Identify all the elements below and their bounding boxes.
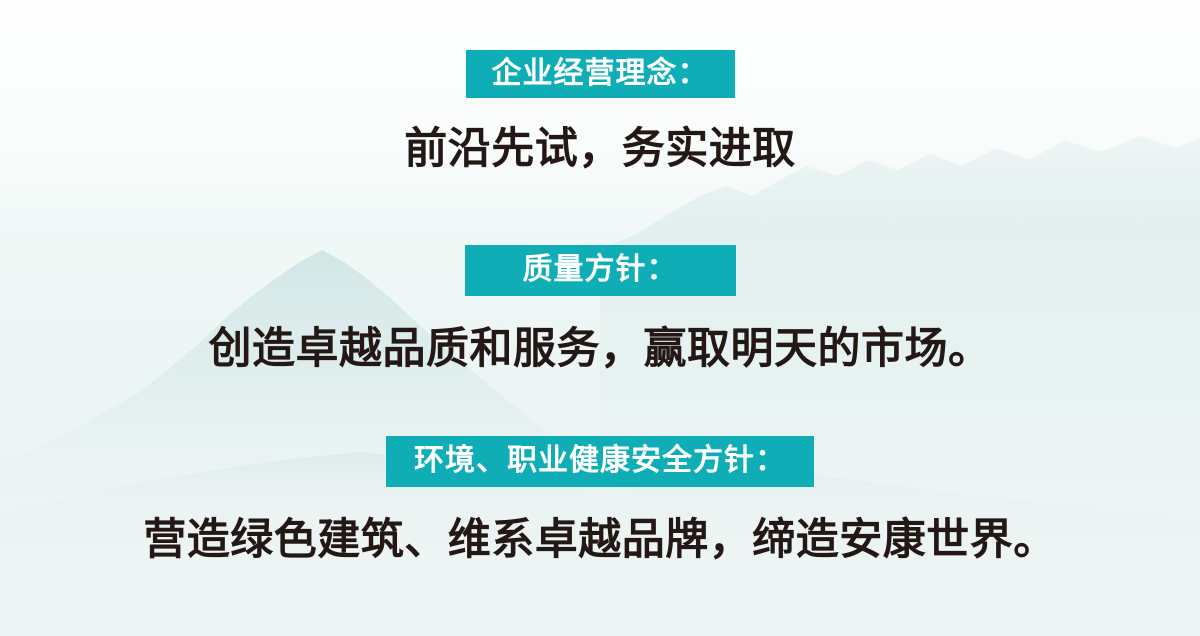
statement-text-corporate-philosophy: 前沿先试，务实进取 bbox=[0, 128, 1200, 171]
badge-quality-policy: 质量方针： bbox=[465, 245, 736, 296]
statement-text-ehs-policy: 营造绿色建筑、维系卓越品牌，缔造安康世界。 bbox=[0, 519, 1200, 562]
statement-block-ehs-policy: 环境、职业健康安全方针： 营造绿色建筑、维系卓越品牌，缔造安康世界。 bbox=[0, 436, 1200, 562]
statement-block-corporate-philosophy: 企业经营理念： 前沿先试，务实进取 bbox=[0, 50, 1200, 171]
poster-canvas: 企业经营理念： 前沿先试，务实进取 质量方针： 创造卓越品质和服务，赢取明天的市… bbox=[0, 0, 1200, 636]
statement-text-quality-policy: 创造卓越品质和服务，赢取明天的市场。 bbox=[0, 328, 1200, 371]
badge-corporate-philosophy: 企业经营理念： bbox=[466, 50, 735, 98]
statement-block-quality-policy: 质量方针： 创造卓越品质和服务，赢取明天的市场。 bbox=[0, 245, 1200, 371]
poster-content: 企业经营理念： 前沿先试，务实进取 质量方针： 创造卓越品质和服务，赢取明天的市… bbox=[0, 0, 1200, 636]
badge-ehs-policy: 环境、职业健康安全方针： bbox=[386, 436, 814, 487]
